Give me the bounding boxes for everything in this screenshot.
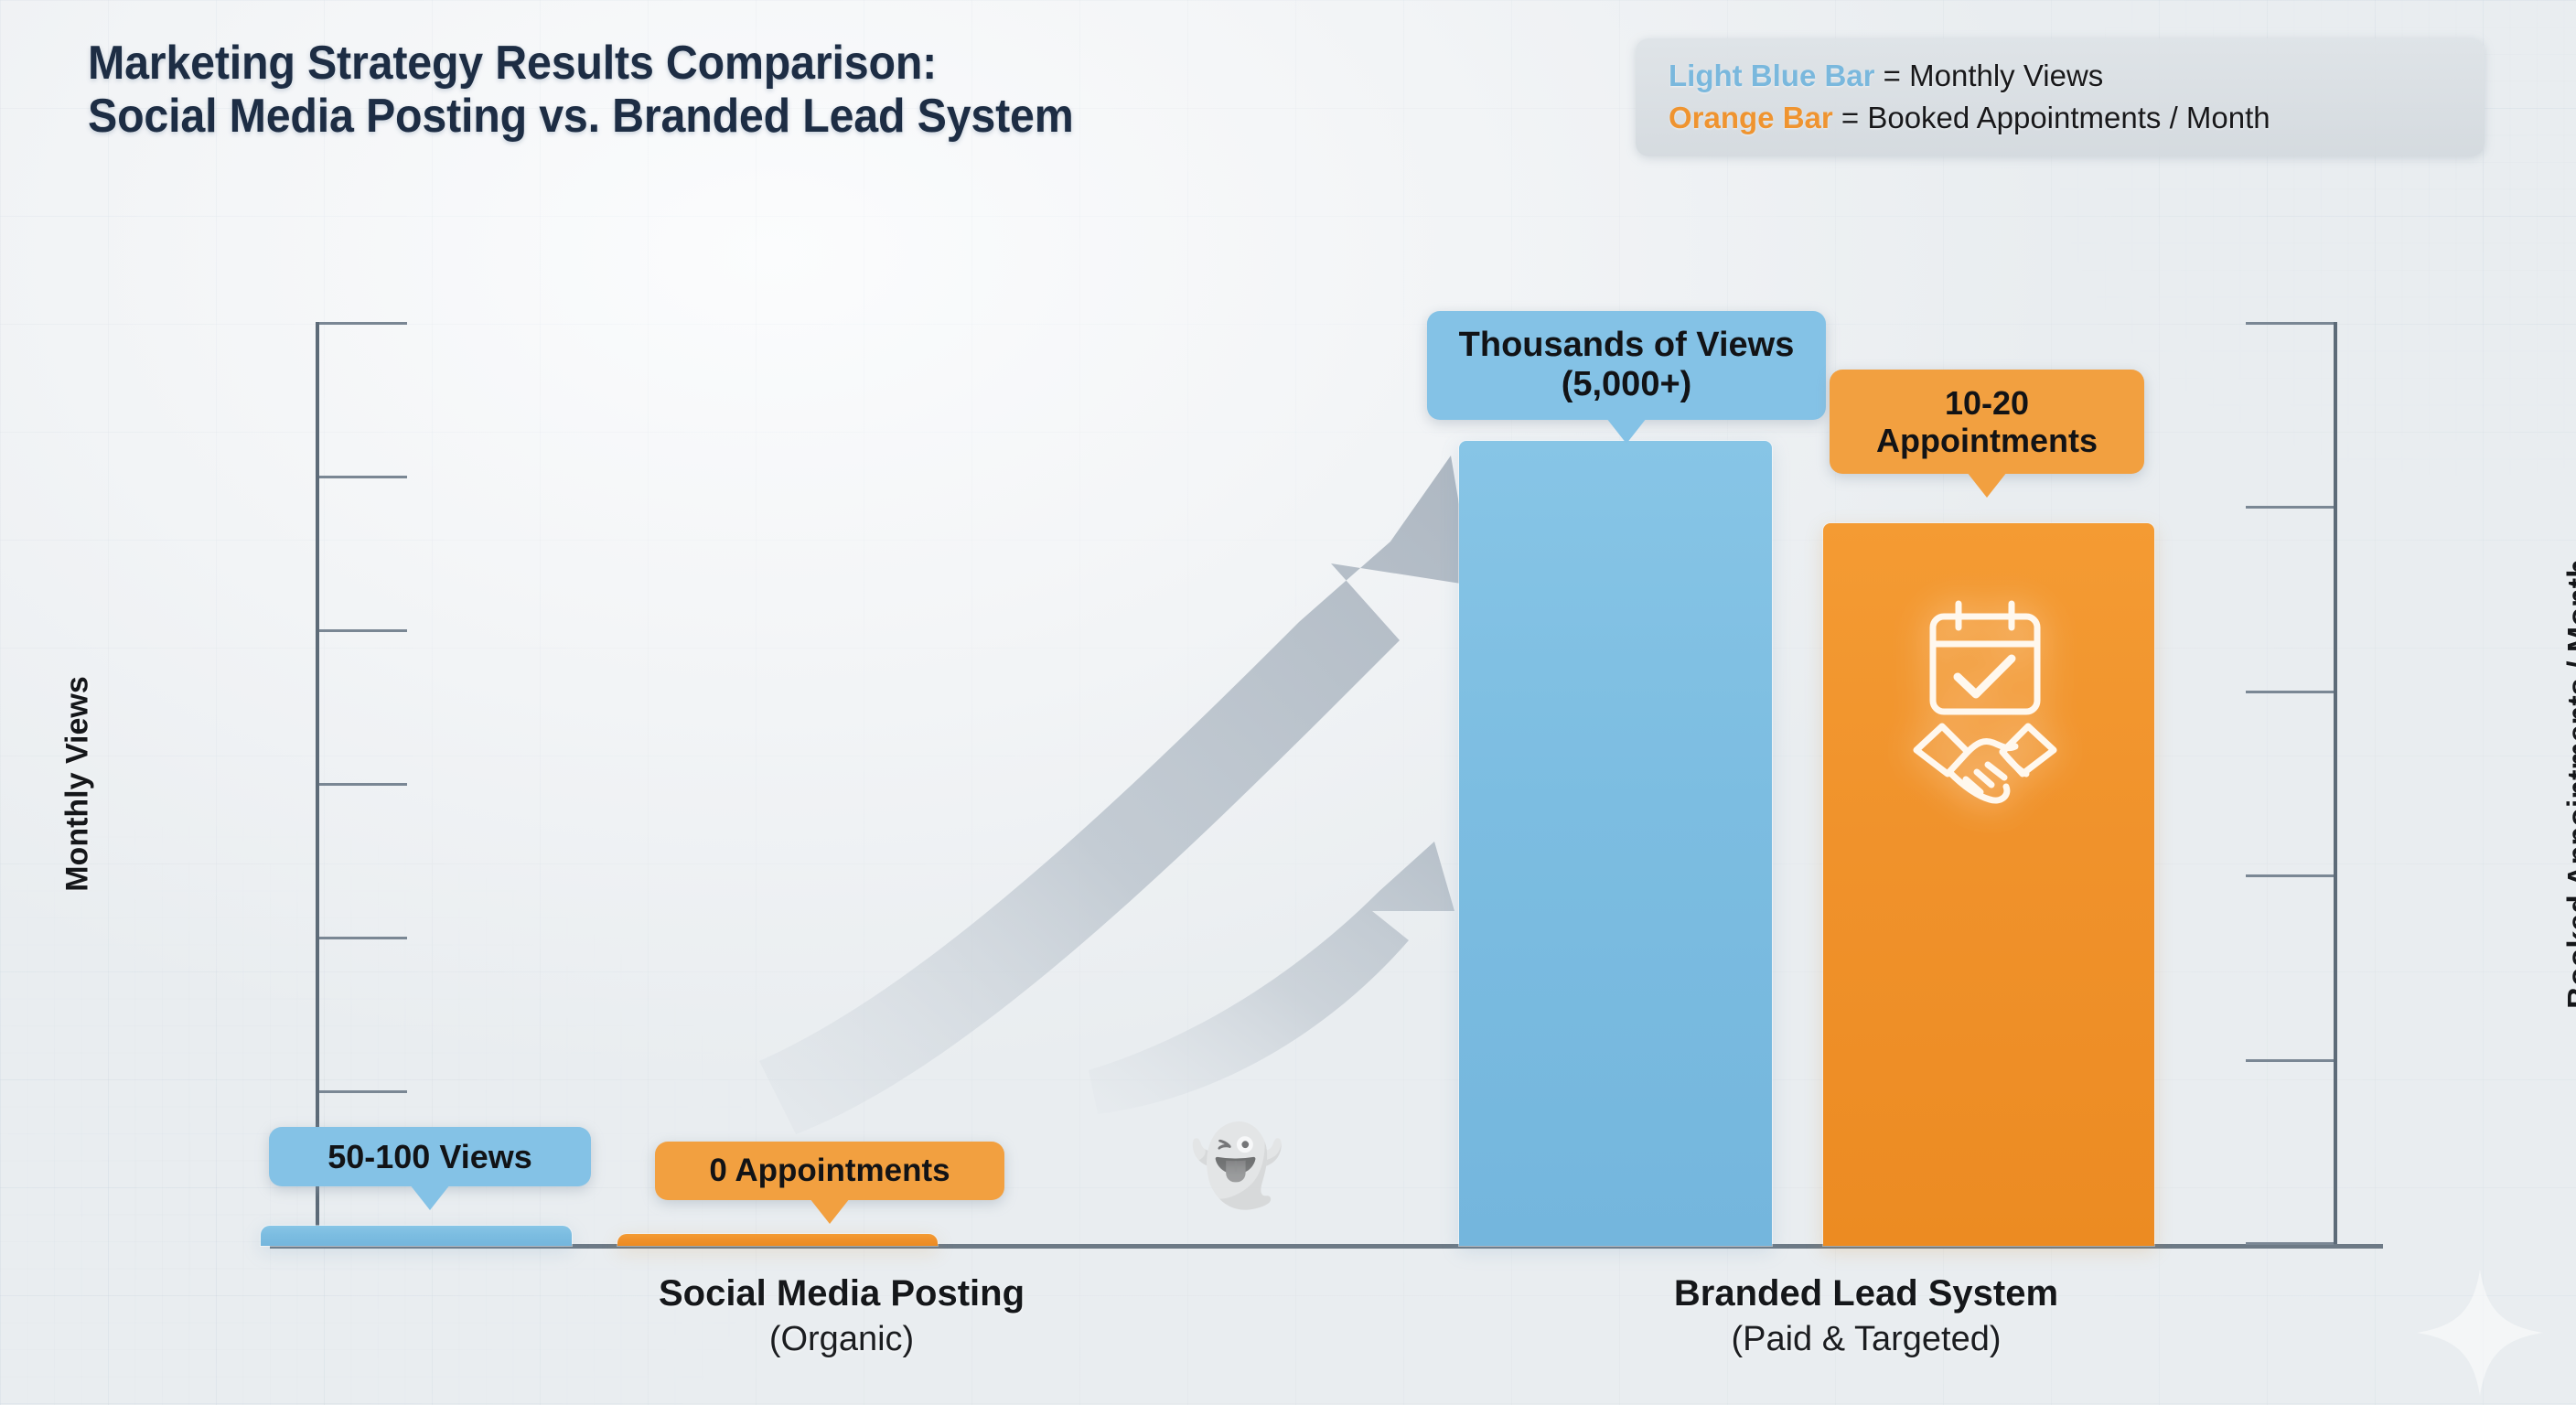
callout-social-media-appointments: 0 Appointments (655, 1142, 1004, 1200)
callout-branded-views: Thousands of Views (5,000+) (1427, 311, 1826, 420)
y-tick-left-3000 (319, 783, 407, 786)
y-tick-left-2000 (319, 937, 407, 939)
sparkle-icon (2411, 1264, 2549, 1401)
callout-branded-appointments: 10-20 Appointments (1830, 370, 2144, 474)
callout-social-media-views: 50-100 Views (269, 1127, 591, 1186)
x-category-branded-lead: Branded Lead System (Paid & Targeted) (1555, 1273, 2177, 1359)
legend-box: Light Blue Bar = Monthly Views Orange Ba… (1636, 38, 2485, 156)
bar-social-media-appointments (617, 1234, 938, 1246)
legend-text-orange: = Booked Appointments / Month (1833, 101, 2270, 134)
y-axis-right-spine (2334, 322, 2337, 1246)
y-tick-left-5000 (319, 476, 407, 478)
legend-key-blue: Light Blue Bar (1669, 59, 1875, 92)
legend-key-orange: Orange Bar (1669, 101, 1833, 134)
bar-social-media-views (261, 1226, 572, 1246)
y-tick-left-4000 (319, 629, 407, 632)
y-tick-left-6000 (319, 322, 407, 325)
x-category-social-media-sub: (Organic) (531, 1320, 1153, 1359)
x-category-social-media: Social Media Posting (Organic) (531, 1273, 1153, 1359)
bar-branded-lead-views (1459, 441, 1772, 1246)
ghost-icon: 👻 (1189, 1127, 1285, 1204)
y-tick-right-15 (2246, 691, 2334, 693)
y-tick-right-5 (2246, 1059, 2334, 1062)
y-tick-right-10 (2246, 874, 2334, 877)
title-line-1: Marketing Strategy Results Comparison: (88, 37, 937, 90)
y-axis-left-title: Monthly Views (60, 676, 96, 892)
legend-row-views: Light Blue Bar = Monthly Views (1669, 55, 2461, 97)
y-axis-right-title: Booked Appointments / Month (2562, 559, 2576, 1009)
x-category-branded-lead-name: Branded Lead System (1555, 1273, 2177, 1314)
y-tick-right-0 (2246, 1242, 2334, 1245)
x-category-social-media-name: Social Media Posting (531, 1273, 1153, 1314)
y-tick-left-1000 (319, 1090, 407, 1093)
x-category-branded-lead-sub: (Paid & Targeted) (1555, 1320, 2177, 1359)
y-tick-right-20 (2246, 506, 2334, 509)
chart-canvas: Marketing Strategy Results Comparison: S… (0, 0, 2576, 1405)
legend-text-blue: = Monthly Views (1875, 59, 2104, 92)
title-line-2: Social Media Posting vs. Branded Lead Sy… (88, 90, 1074, 143)
legend-row-appointments: Orange Bar = Booked Appointments / Month (1669, 97, 2461, 139)
page-title: Marketing Strategy Results Comparison: S… (88, 37, 1074, 143)
y-tick-right-25 (2246, 322, 2334, 325)
calendar-check-handshake-icon (1889, 596, 2081, 807)
